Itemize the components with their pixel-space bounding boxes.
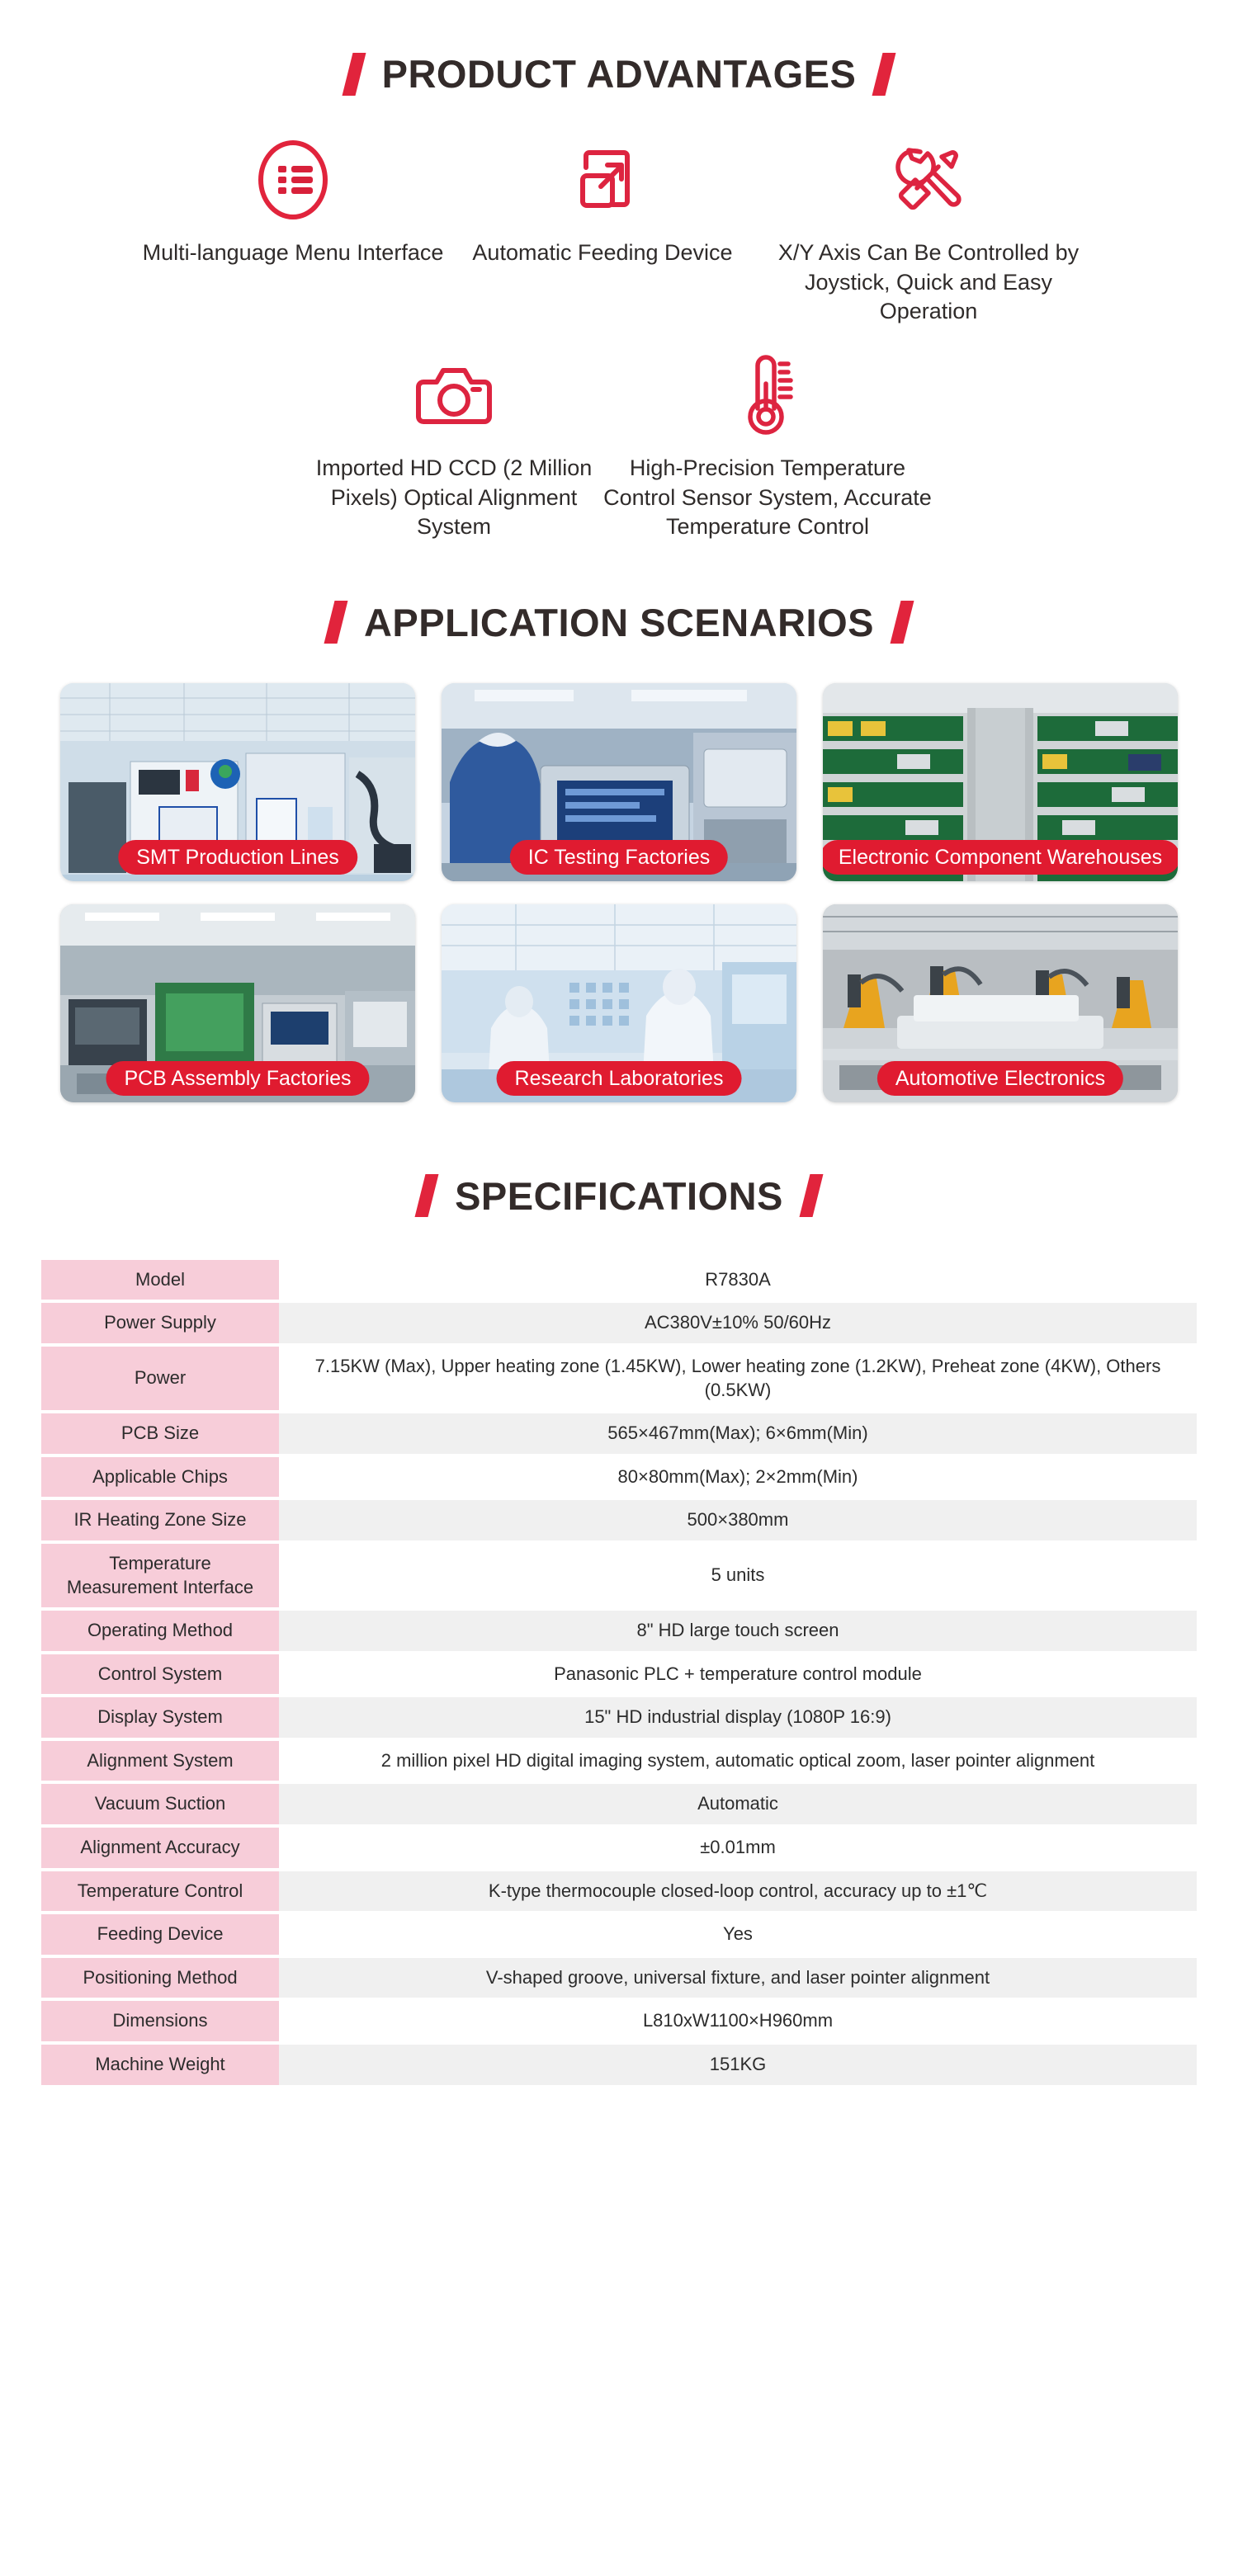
table-row: Applicable Chips80×80mm(Max); 2×2mm(Min) — [41, 1455, 1197, 1499]
scenario-card-automotive-electronics[interactable]: Automotive Electronics — [823, 904, 1178, 1102]
spec-key-cell: Applicable Chips — [41, 1455, 279, 1499]
table-row: Feeding DeviceYes — [41, 1913, 1197, 1956]
spec-key-cell: Alignment System — [41, 1739, 279, 1783]
scenario-card-research-laboratories[interactable]: Research Laboratories — [442, 904, 796, 1102]
table-row: Alignment Accuracy±0.01mm — [41, 1826, 1197, 1870]
scenario-cards-row-2: PCB Assembly Factories — [0, 904, 1238, 1102]
advantage-label: X/Y Axis Can Be Controlled by Joystick, … — [755, 238, 1102, 327]
application-scenarios-section: APPLICATION SCENARIOS — [0, 542, 1238, 1102]
specifications-heading: SPECIFICATIONS — [0, 1173, 1238, 1219]
scenario-label: IC Testing Factories — [510, 840, 728, 875]
table-row: Power7.15KW (Max), Upper heating zone (1… — [41, 1345, 1197, 1412]
section-title: SPECIFICATIONS — [455, 1173, 783, 1219]
spec-value-cell: 5 units — [279, 1542, 1197, 1609]
scenario-card-ic-testing-factories[interactable]: IC Testing Factories — [442, 683, 796, 881]
table-row: Alignment System2 million pixel HD digit… — [41, 1739, 1197, 1783]
spec-key-cell: Temperature Measurement Interface — [41, 1542, 279, 1609]
product-advantages-heading: PRODUCT ADVANTAGES — [0, 51, 1238, 97]
spec-key-cell: Power — [41, 1345, 279, 1412]
advantages-row-1: Multi-language Menu Interface Automatic … — [0, 136, 1238, 327]
spec-key-cell: Alignment Accuracy — [41, 1826, 279, 1870]
spec-value-cell: ±0.01mm — [279, 1826, 1197, 1870]
scenario-label: PCB Assembly Factories — [106, 1061, 369, 1096]
scenario-cards-row-1: SMT Production Lines IC T — [0, 683, 1238, 881]
spec-value-cell: Automatic — [279, 1782, 1197, 1826]
table-row: Operating Method8" HD large touch screen — [41, 1609, 1197, 1653]
advantage-label: Imported HD CCD (2 Million Pixels) Optic… — [305, 454, 602, 542]
list-menu-icon — [255, 136, 331, 224]
spec-value-cell: L810xW1100×H960mm — [279, 1999, 1197, 2043]
scenario-label: Electronic Component Warehouses — [823, 840, 1178, 875]
spec-key-cell: Temperature Control — [41, 1870, 279, 1913]
spec-value-cell: K-type thermocouple closed-loop control,… — [279, 1870, 1197, 1913]
slash-right-icon — [872, 53, 896, 96]
slash-left-icon — [415, 1174, 439, 1217]
thermometer-icon — [733, 351, 802, 439]
table-row: Display System15" HD industrial display … — [41, 1696, 1197, 1739]
spec-value-cell: 15" HD industrial display (1080P 16:9) — [279, 1696, 1197, 1739]
scenario-card-electronic-component-warehouses[interactable]: Electronic Component Warehouses — [823, 683, 1178, 881]
advantage-label: Automatic Feeding Device — [472, 238, 732, 268]
page-title: PRODUCT ADVANTAGES — [382, 51, 857, 97]
table-row: ModelR7830A — [41, 1260, 1197, 1302]
slash-right-icon — [799, 1174, 823, 1217]
scenario-card-pcb-assembly-factories[interactable]: PCB Assembly Factories — [60, 904, 415, 1102]
table-row: Control SystemPanasonic PLC + temperatur… — [41, 1653, 1197, 1696]
table-row: Temperature Measurement Interface5 units — [41, 1542, 1197, 1609]
spec-key-cell: Positioning Method — [41, 1956, 279, 2000]
advantage-item-automatic-feeding: Automatic Feeding Device — [450, 136, 755, 327]
table-row: DimensionsL810xW1100×H960mm — [41, 1999, 1197, 2043]
advantage-item-multi-language-menu: Multi-language Menu Interface — [136, 136, 450, 327]
advantage-item-xy-axis-joystick: X/Y Axis Can Be Controlled by Joystick, … — [755, 136, 1102, 327]
advantages-row-2: Imported HD CCD (2 Million Pixels) Optic… — [0, 351, 1238, 542]
spec-value-cell: Panasonic PLC + temperature control modu… — [279, 1653, 1197, 1696]
spec-value-cell: 80×80mm(Max); 2×2mm(Min) — [279, 1455, 1197, 1499]
advantage-item-hd-ccd-alignment: Imported HD CCD (2 Million Pixels) Optic… — [305, 351, 602, 542]
spec-value-cell: 2 million pixel HD digital imaging syste… — [279, 1739, 1197, 1783]
advantage-label: Multi-language Menu Interface — [143, 238, 444, 268]
camera-icon — [412, 351, 496, 439]
spec-value-cell: 7.15KW (Max), Upper heating zone (1.45KW… — [279, 1345, 1197, 1412]
spec-value-cell: 151KG — [279, 2043, 1197, 2087]
table-row: Temperature ControlK-type thermocouple c… — [41, 1870, 1197, 1913]
spec-key-cell: PCB Size — [41, 1412, 279, 1455]
table-row: Positioning MethodV-shaped groove, unive… — [41, 1956, 1197, 2000]
table-row: PCB Size565×467mm(Max); 6×6mm(Min) — [41, 1412, 1197, 1455]
scenario-label: Automotive Electronics — [877, 1061, 1123, 1096]
table-row: IR Heating Zone Size500×380mm — [41, 1498, 1197, 1542]
specifications-table: ModelR7830APower SupplyAC380V±10% 50/60H… — [41, 1260, 1197, 2088]
table-row: Vacuum SuctionAutomatic — [41, 1782, 1197, 1826]
spec-key-cell: Operating Method — [41, 1609, 279, 1653]
spec-value-cell: Yes — [279, 1913, 1197, 1956]
spec-value-cell: 565×467mm(Max); 6×6mm(Min) — [279, 1412, 1197, 1455]
advantage-item-temperature-control: High-Precision Temperature Control Senso… — [602, 351, 933, 542]
spec-key-cell: Power Supply — [41, 1301, 279, 1345]
table-row: Machine Weight151KG — [41, 2043, 1197, 2087]
spec-key-cell: Vacuum Suction — [41, 1782, 279, 1826]
slash-left-icon — [324, 601, 347, 644]
spec-key-cell: Dimensions — [41, 1999, 279, 2043]
feeding-arrow-icon — [565, 136, 640, 224]
spec-value-cell: 500×380mm — [279, 1498, 1197, 1542]
specifications-table-body: ModelR7830APower SupplyAC380V±10% 50/60H… — [41, 1260, 1197, 2087]
scenario-label: SMT Production Lines — [118, 840, 357, 875]
spec-value-cell: 8" HD large touch screen — [279, 1609, 1197, 1653]
specifications-section: SPECIFICATIONS ModelR7830APower SupplyAC… — [0, 1102, 1238, 2121]
spec-key-cell: Machine Weight — [41, 2043, 279, 2087]
spec-key-cell: Control System — [41, 1653, 279, 1696]
slash-left-icon — [342, 53, 366, 96]
spec-value-cell: AC380V±10% 50/60Hz — [279, 1301, 1197, 1345]
slash-right-icon — [891, 601, 914, 644]
section-title: APPLICATION SCENARIOS — [364, 600, 874, 645]
scenario-label: Research Laboratories — [497, 1061, 742, 1096]
application-scenarios-heading: APPLICATION SCENARIOS — [0, 600, 1238, 645]
table-row: Power SupplyAC380V±10% 50/60Hz — [41, 1301, 1197, 1345]
spec-key-cell: Feeding Device — [41, 1913, 279, 1956]
spec-key-cell: Model — [41, 1260, 279, 1302]
spec-key-cell: Display System — [41, 1696, 279, 1739]
spec-value-cell: R7830A — [279, 1260, 1197, 1302]
tools-wrench-icon — [884, 136, 973, 224]
spec-value-cell: V-shaped groove, universal fixture, and … — [279, 1956, 1197, 2000]
scenario-card-smt-production-lines[interactable]: SMT Production Lines — [60, 683, 415, 881]
advantage-label: High-Precision Temperature Control Senso… — [602, 454, 933, 542]
product-advantages-section: PRODUCT ADVANTAGES Multi-language Menu I… — [0, 0, 1238, 542]
spec-key-cell: IR Heating Zone Size — [41, 1498, 279, 1542]
